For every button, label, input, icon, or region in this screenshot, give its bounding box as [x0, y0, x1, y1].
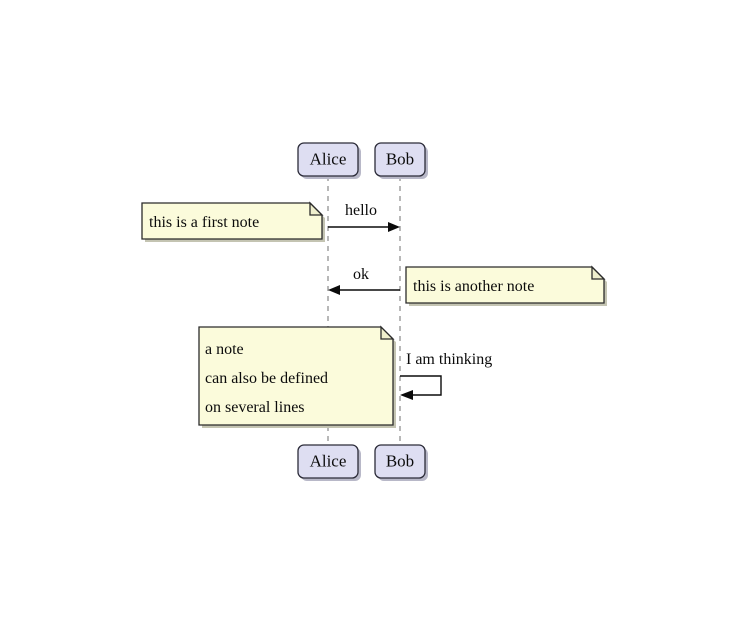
message-thinking[interactable]: I am thinking [400, 351, 492, 400]
note-first-fold [310, 203, 322, 215]
message-ok-label: ok [353, 266, 369, 283]
note-another[interactable]: this is another note [406, 267, 607, 306]
message-ok[interactable]: ok [328, 266, 400, 295]
note-multiline-line-0: a note [205, 341, 244, 358]
note-multiline-fold [381, 327, 393, 339]
note-multiline[interactable]: a note can also be defined on several li… [199, 327, 396, 428]
note-multiline-line-1: can also be defined [205, 370, 328, 387]
message-hello-arrowhead [388, 222, 400, 232]
message-thinking-arrowhead [400, 390, 413, 400]
participant-alice-bottom[interactable]: Alice [298, 445, 361, 481]
participant-bob-top[interactable]: Bob [375, 143, 428, 179]
note-first-line-0: this is a first note [149, 214, 259, 231]
participant-alice-bottom-label: Alice [310, 451, 347, 470]
sequence-diagram-canvas: Alice Bob hello this is a first note ok [0, 0, 746, 620]
note-another-line-0: this is another note [413, 278, 534, 295]
participant-bob-bottom-label: Bob [386, 451, 414, 470]
note-multiline-line-2: on several lines [205, 399, 305, 416]
note-first[interactable]: this is a first note [142, 203, 325, 242]
participant-alice-top-label: Alice [310, 149, 347, 168]
message-thinking-loop [400, 376, 441, 395]
participant-bob-top-label: Bob [386, 149, 414, 168]
message-hello[interactable]: hello [328, 202, 400, 232]
sequence-diagram-svg: Alice Bob hello this is a first note ok [0, 0, 746, 620]
message-ok-arrowhead [328, 285, 340, 295]
message-thinking-label: I am thinking [406, 351, 492, 368]
participant-alice-top[interactable]: Alice [298, 143, 361, 179]
note-another-fold [592, 267, 604, 279]
participant-bob-bottom[interactable]: Bob [375, 445, 428, 481]
message-hello-label: hello [345, 202, 377, 219]
